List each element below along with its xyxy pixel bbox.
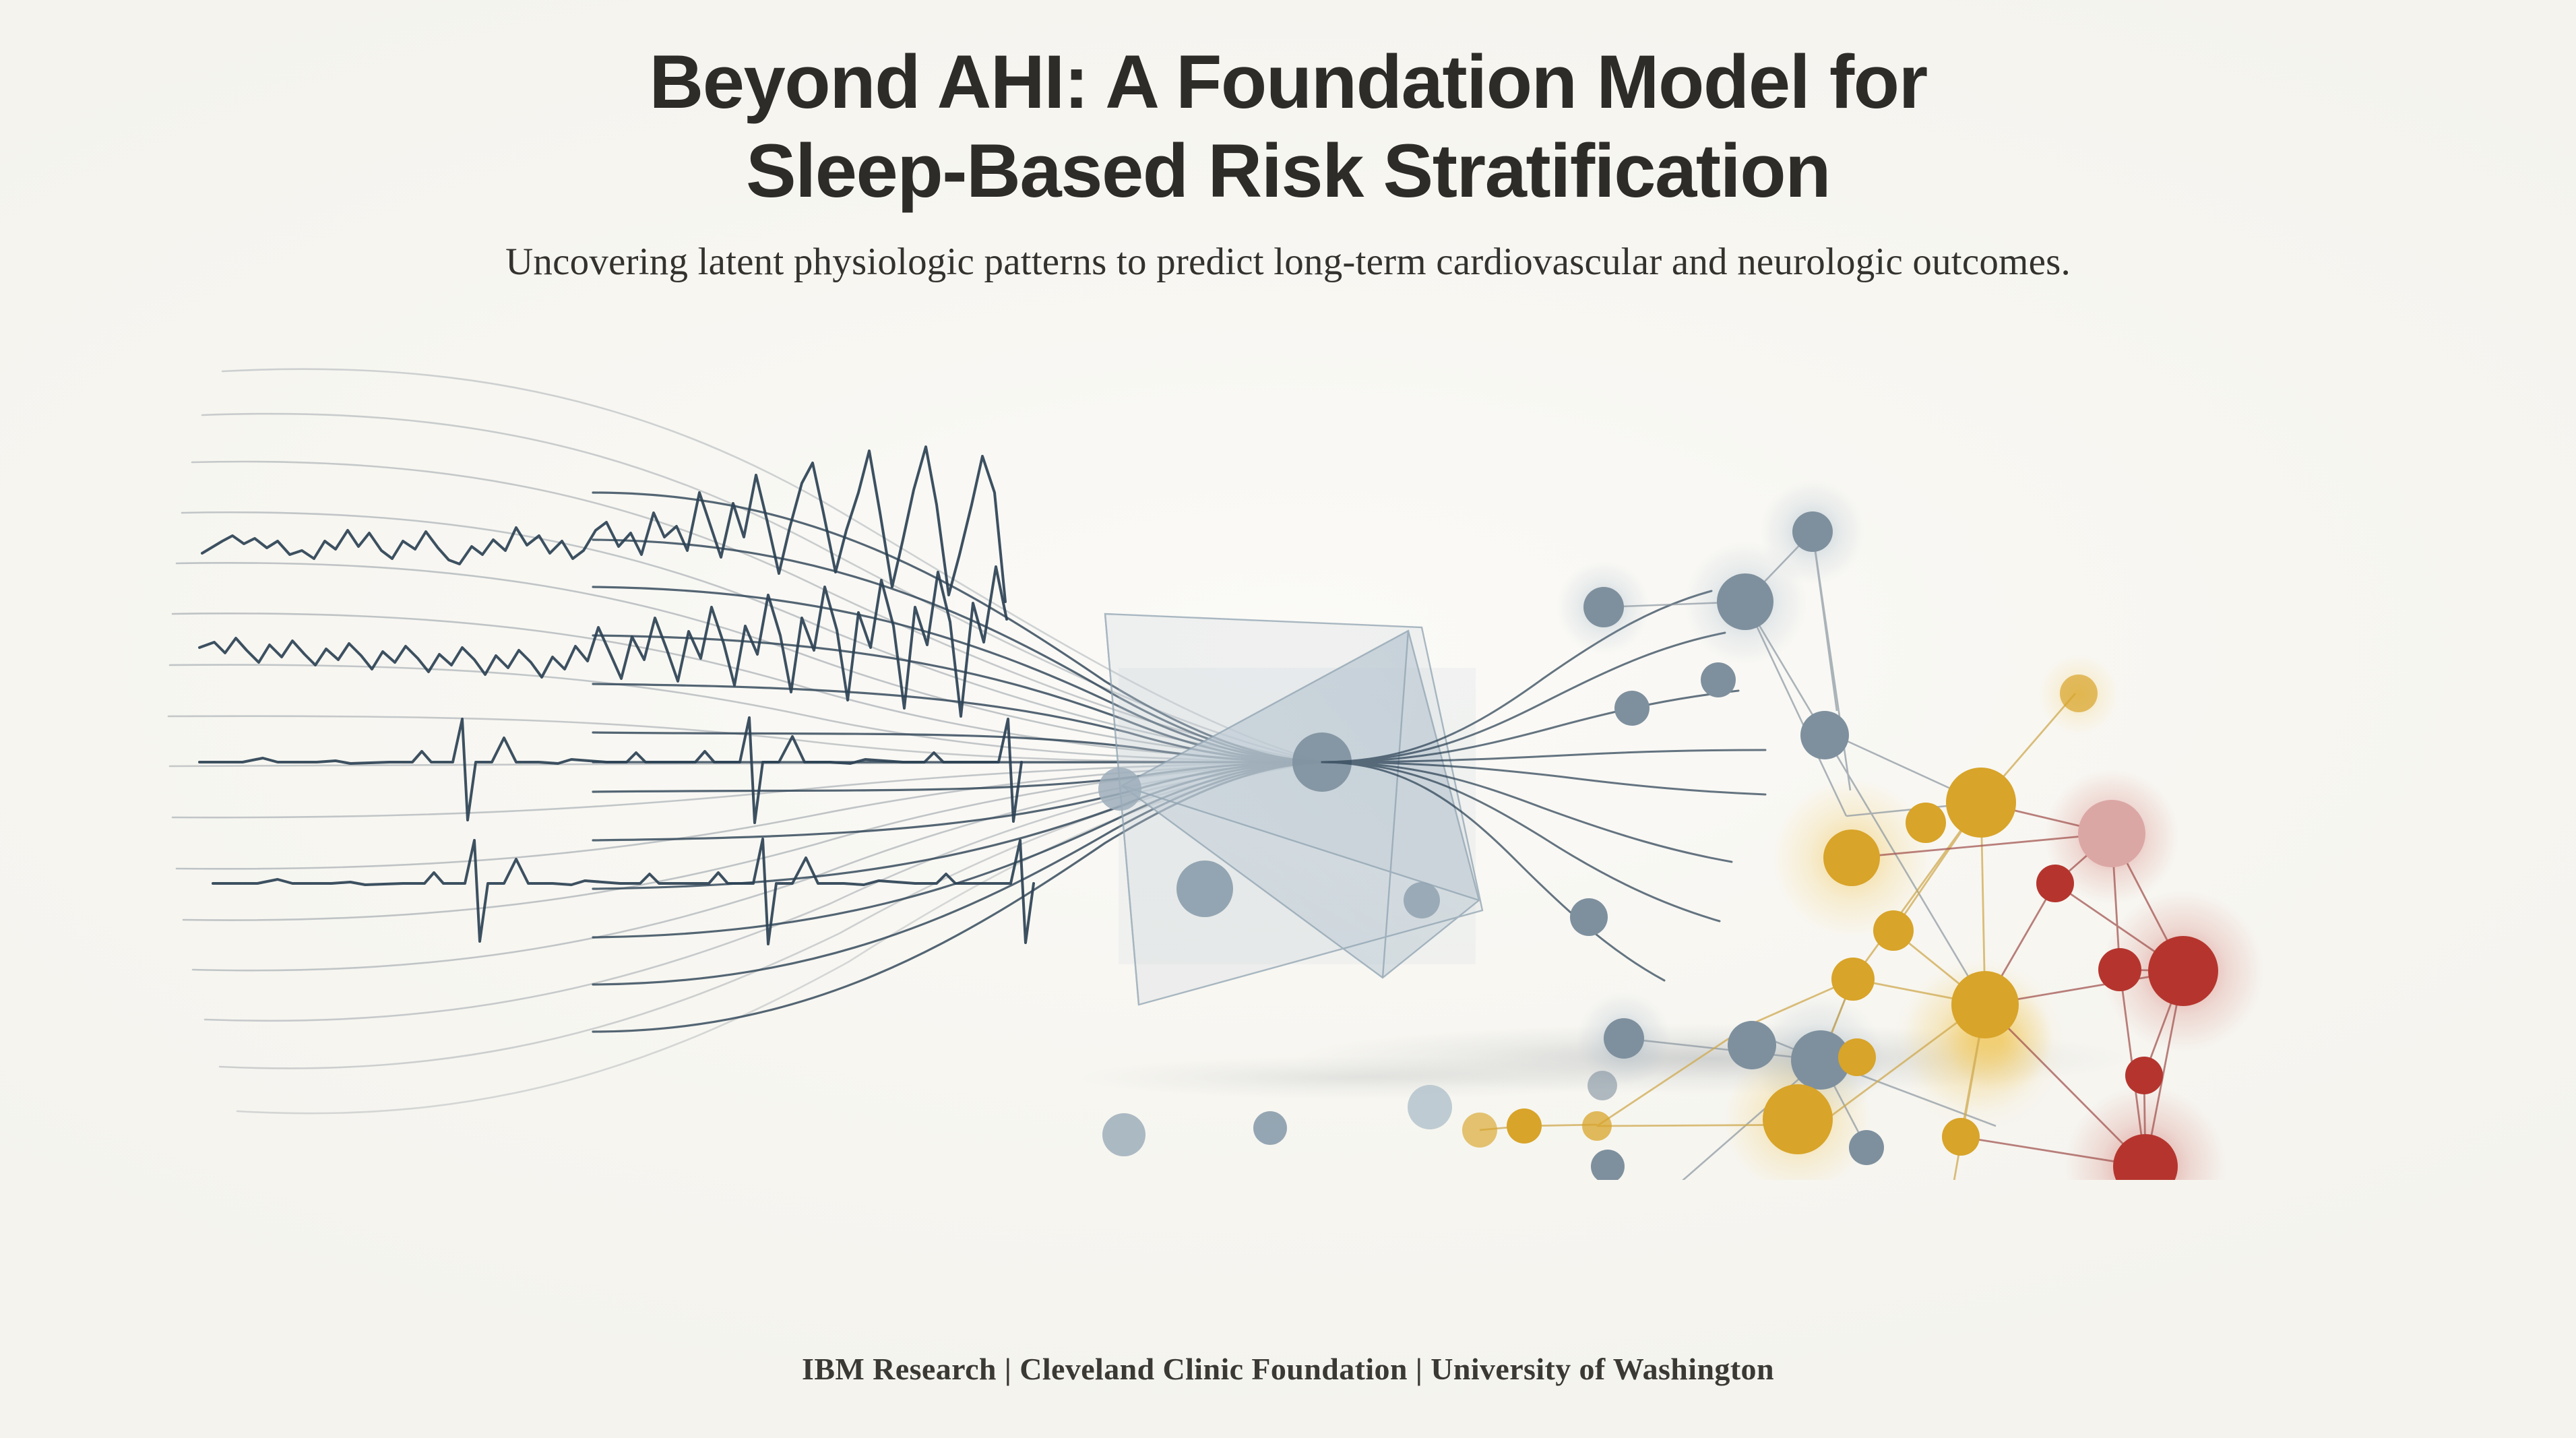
network-node-gold (1831, 958, 1875, 1001)
network-node-gold (1462, 1113, 1497, 1148)
network-node-gold (1951, 971, 2019, 1038)
network-node-blue (1583, 587, 1624, 627)
network-node-blue (1614, 691, 1650, 726)
prism-vertex-node-bottom-left (1102, 1113, 1145, 1156)
prism-vertex-node-top-left (1098, 768, 1141, 811)
network-node-gold (1906, 803, 1946, 843)
hero-figure (0, 290, 2576, 1180)
prism-vertex-node-bottom (1253, 1111, 1287, 1145)
title-block: Beyond AHI: A Foundation Model for Sleep… (0, 38, 2576, 284)
network-node-blue (1792, 511, 1833, 552)
network-node-blue (1591, 1150, 1625, 1180)
network-node-red (2148, 936, 2218, 1006)
network-node-gold (1763, 1084, 1833, 1154)
network-node-gold (2060, 675, 2098, 712)
network-node-gold (1507, 1108, 1542, 1144)
network-node-blue (1800, 711, 1849, 759)
network-node-blue (1604, 1018, 1644, 1059)
affiliations-footer: IBM Research | Cleveland Clinic Foundati… (0, 1351, 2576, 1387)
network-node-blue (1588, 1071, 1617, 1100)
eeg-trace-1 (202, 447, 1005, 602)
network-node-gold (1838, 1038, 1876, 1076)
network-node-gold (1942, 1118, 1980, 1156)
page-subtitle: Uncovering latent physiologic patterns t… (0, 240, 2576, 284)
network-node-pink (2078, 800, 2145, 867)
sleep-foundation-model-diagram (0, 290, 2576, 1180)
network-node-blue (1728, 1021, 1776, 1069)
figure-ground-shadow-secondary (1078, 1056, 1644, 1099)
network-node-red (2036, 865, 2074, 902)
network-node-blue (1701, 662, 1736, 697)
network-node-gold (1946, 768, 2016, 838)
network-node-blue (1717, 573, 1773, 630)
network-node-red (2098, 948, 2141, 991)
page-title-line-2: Sleep-Based Risk Stratification (0, 127, 2576, 216)
network-node-gold (1873, 910, 1914, 951)
presentation-slide: Beyond AHI: A Foundation Model for Sleep… (0, 0, 2576, 1438)
network-node-red (2125, 1057, 2163, 1094)
prism-vertex-node-right (1404, 882, 1440, 918)
network-node-blue (1849, 1130, 1884, 1165)
prism-vertex-node-top (1176, 861, 1233, 917)
prism-vertex-node-bottom-right (1408, 1085, 1452, 1129)
network-node-gold (1823, 830, 1880, 886)
page-title-line-1: Beyond AHI: A Foundation Model for (0, 38, 2576, 127)
network-node-gold (1582, 1111, 1612, 1141)
network-node-blue (1570, 898, 1608, 936)
